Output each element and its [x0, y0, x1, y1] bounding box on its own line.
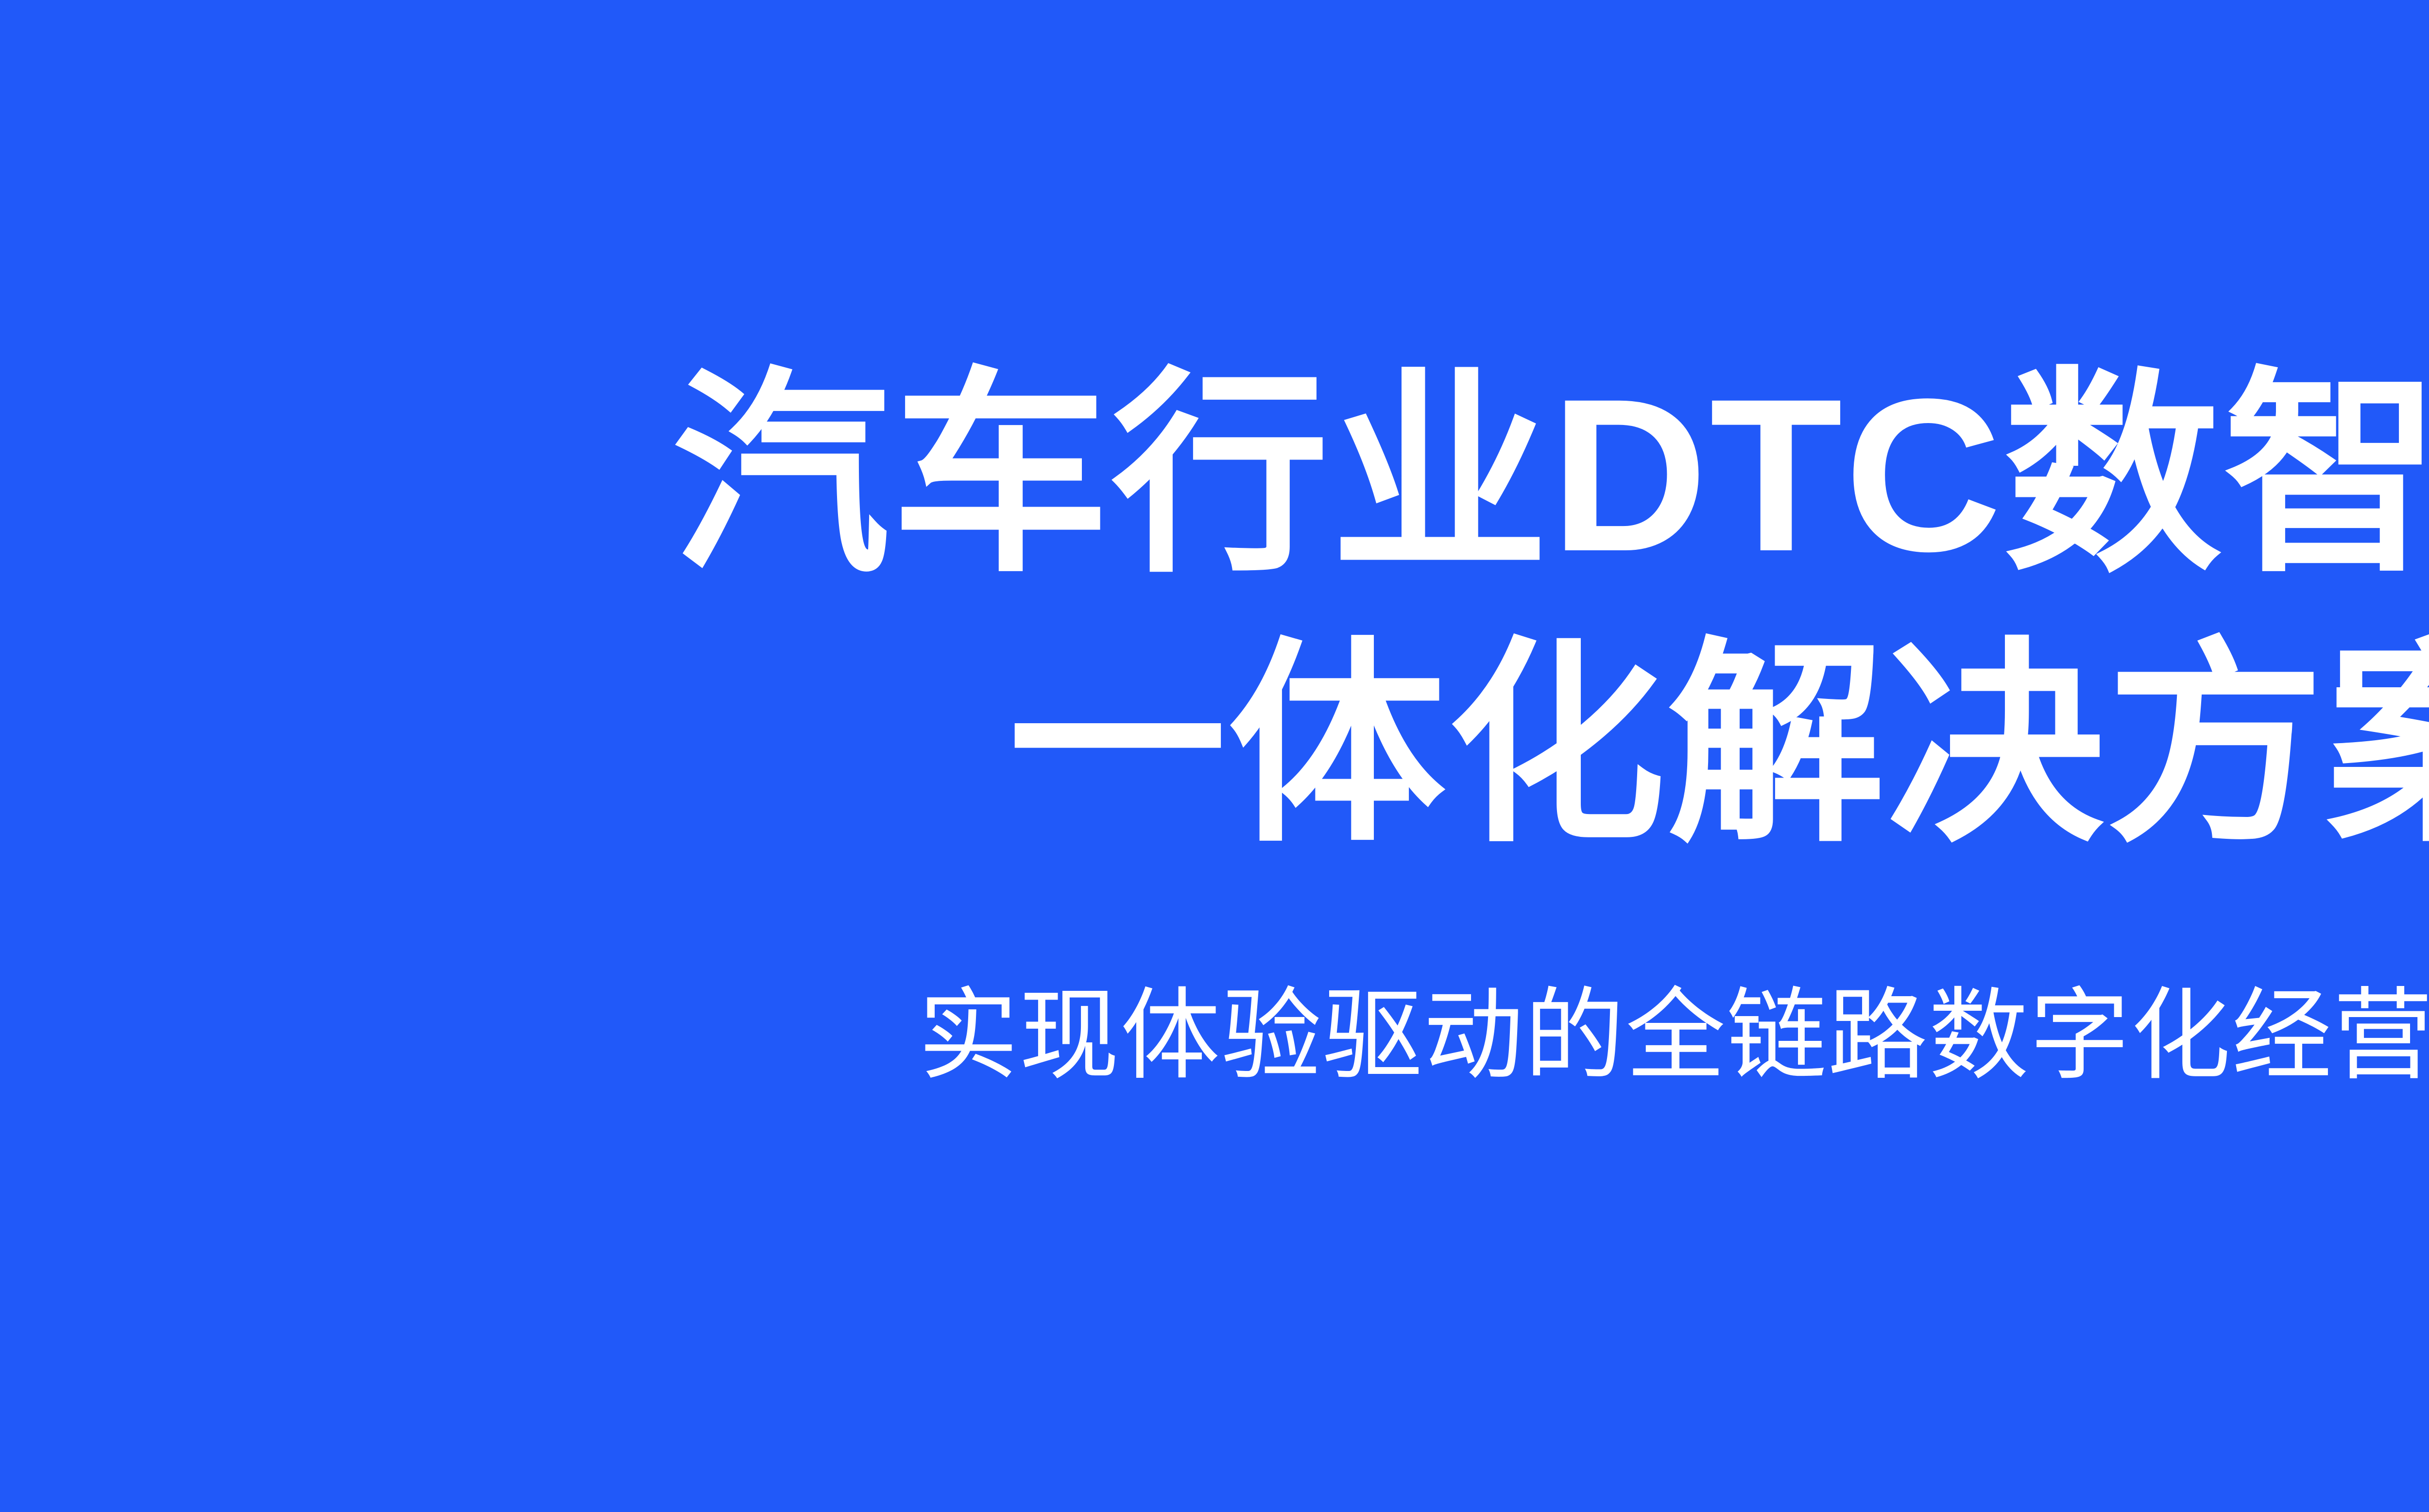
page-title: 汽车行业DTC数智运营 一体化解决方案	[672, 340, 2429, 880]
hero-text-block: 汽车行业DTC数智运营 一体化解决方案 实现体验驱动的全链路数字化经营增长	[0, 340, 2429, 1101]
page-title-line-2: 一体化解决方案	[672, 610, 2429, 880]
page-subtitle: 实现体验驱动的全链路数字化经营增长	[918, 971, 2429, 1101]
page-title-line-1: 汽车行业DTC数智运营	[672, 340, 2429, 610]
title-slide: 汽车行业DTC数智运营 一体化解决方案 实现体验驱动的全链路数字化经营增长	[0, 0, 2429, 1512]
